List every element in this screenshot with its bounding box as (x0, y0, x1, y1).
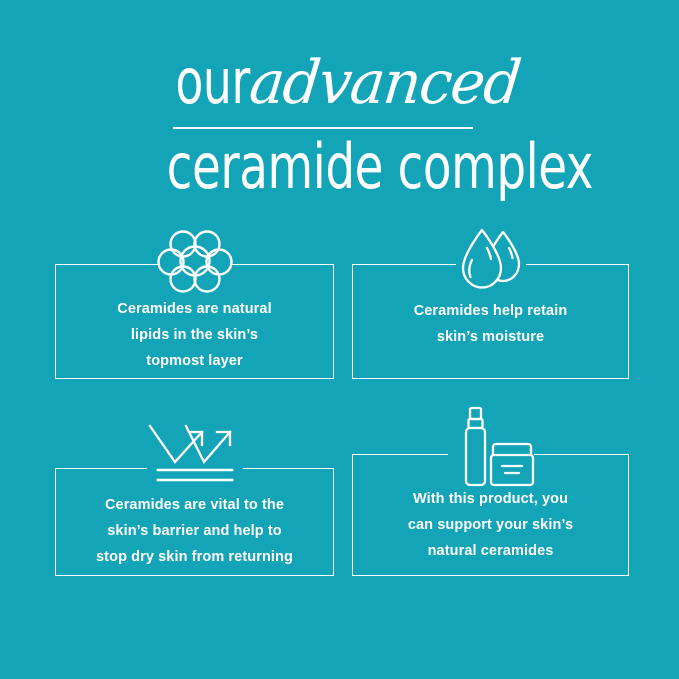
card-text-line: With this product, you (352, 486, 629, 512)
barrier-deflect-arrows-icon (142, 418, 248, 486)
card-text-line: Ceramides help retain (352, 298, 629, 324)
headline-underline (173, 127, 473, 129)
card-text-line: natural ceramides (352, 538, 629, 564)
headline-line-1: ouradvanced (0, 47, 679, 119)
info-card-ceramides-natural-lipids: Ceramides are natural lipids in the skin… (55, 264, 334, 379)
cell-cluster-icon (152, 228, 238, 294)
card-text-line: stop dry skin from returning (55, 544, 334, 570)
card-text-line: topmost layer (55, 348, 334, 374)
headline-word-our: our (175, 47, 250, 117)
card-text-line: skin’s barrier and help to (55, 518, 334, 544)
card-text-line: Ceramides are natural (55, 296, 334, 322)
info-card-product-supports-ceramides: With this product, you can support your … (352, 454, 629, 576)
card-text: With this product, you can support your … (352, 486, 629, 564)
card-text-line: lipids in the skin’s (55, 322, 334, 348)
card-text-line: Ceramides are vital to the (55, 492, 334, 518)
card-text-line: skin’s moisture (352, 324, 629, 350)
card-text: Ceramides are natural lipids in the skin… (55, 296, 334, 374)
info-card-ceramides-retain-moisture: Ceramides help retain skin’s moisture (352, 264, 629, 379)
page-title: ouradvanced ceramide complex (0, 47, 679, 201)
water-droplets-icon (451, 226, 531, 296)
info-card-ceramides-skin-barrier: Ceramides are vital to the skin’s barrie… (55, 468, 334, 576)
headline-word-advanced: advanced (247, 48, 524, 118)
card-text-line: can support your skin’s (352, 512, 629, 538)
card-text: Ceramides are vital to the skin’s barrie… (55, 492, 334, 570)
headline-line-2: ceramide complex (0, 133, 679, 201)
ceramide-complex-infographic: ouradvanced ceramide complex Ceramides a… (0, 0, 679, 679)
bottle-and-jar-icon (443, 406, 539, 488)
card-text: Ceramides help retain skin’s moisture (352, 298, 629, 350)
